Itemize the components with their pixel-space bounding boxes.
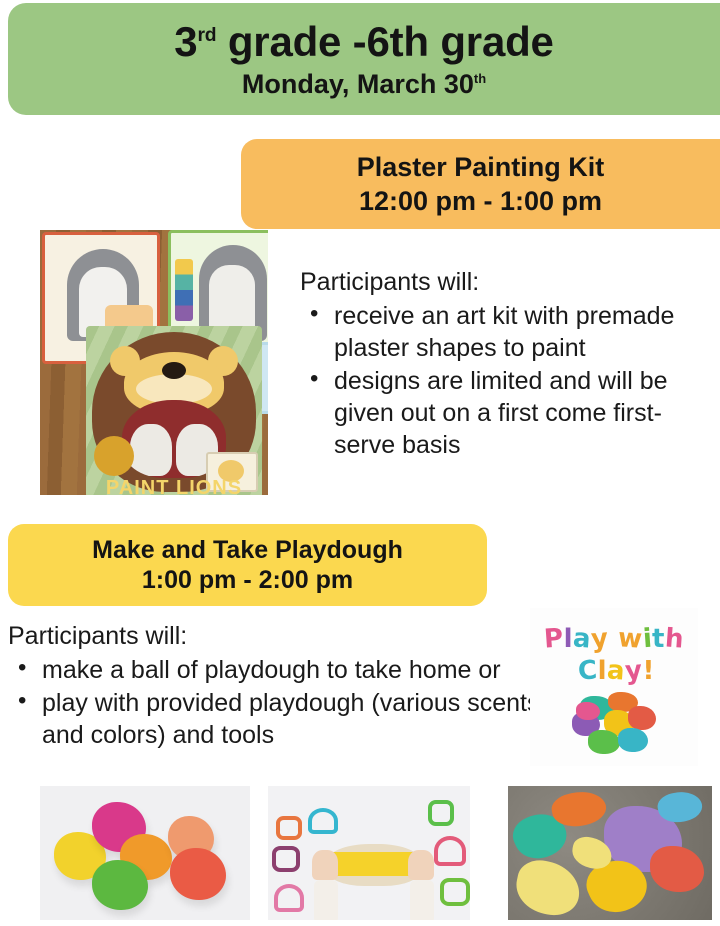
cookie-cutter — [274, 884, 304, 912]
clay-logo-line1: Play with — [544, 624, 684, 654]
clay-logo-letter: y — [590, 623, 610, 654]
clay-figure — [511, 856, 584, 920]
clay-logo-letter: h — [664, 623, 685, 654]
rolling-dough-photo — [268, 786, 470, 920]
playdough-ball — [170, 848, 226, 900]
header-banner: 3rd grade -6th grade Monday, March 30th — [8, 3, 720, 115]
plaster-figure-1 — [130, 424, 172, 476]
header-title-number: 3 — [174, 18, 197, 65]
clay-figures-photo — [508, 786, 712, 920]
play-with-clay-logo-photo: Play with Clay! — [530, 608, 698, 766]
package-label: PAINT LIONS — [86, 477, 262, 495]
clay-logo-letter: a — [572, 623, 592, 654]
header-title-rest: grade -6th grade — [216, 18, 553, 65]
cookie-cutter — [428, 800, 454, 826]
child-hand-right — [408, 850, 434, 880]
cookie-cutter — [272, 846, 300, 872]
child-hand-left — [312, 850, 338, 880]
sleeve — [410, 880, 434, 920]
clay-pile-graphic — [570, 692, 662, 758]
list-item: designs are limited and will be given ou… — [300, 365, 678, 461]
paint-pots-right — [175, 259, 193, 321]
header-date-ordinal: th — [474, 71, 486, 86]
dough-balls-photo — [40, 786, 250, 920]
list-item: play with provided playdough (various sc… — [8, 687, 556, 751]
clay-logo-line2: Clay! — [578, 656, 655, 686]
plaster-kit-photo: PAINT LIONS — [40, 230, 268, 495]
list-item: make a ball of playdough to take home or — [8, 654, 556, 686]
clay-logo-letter: a — [606, 655, 626, 686]
playdough-session-title: Make and Take Playdough — [92, 536, 403, 564]
cookie-cutter — [276, 816, 302, 840]
plaster-session-time: 12:00 pm - 1:00 pm — [359, 186, 602, 216]
header-title-ordinal: rd — [197, 25, 216, 46]
clay-logo-letter: P — [543, 623, 565, 654]
sleeve — [314, 880, 338, 920]
clay-logo-letter: C — [577, 655, 599, 686]
flyer-page: 3rd grade -6th grade Monday, March 30th … — [0, 0, 720, 926]
page-title: 3rd grade -6th grade — [174, 18, 553, 65]
clay-logo-letter: y — [624, 655, 644, 686]
plaster-lead-text: Participants will: — [300, 266, 678, 298]
cookie-cutter — [434, 836, 466, 866]
clay-logo-letter: ! — [643, 656, 655, 686]
list-item: receive an art kit with premade plaster … — [300, 300, 678, 364]
header-date: Monday, March 30th — [242, 69, 486, 99]
cookie-cutter — [308, 808, 338, 834]
clay-blob — [588, 730, 620, 754]
lion-nose — [162, 362, 186, 379]
playdough-session-banner: Make and Take Playdough 1:00 pm - 2:00 p… — [8, 524, 487, 606]
header-date-text: Monday, March 30 — [242, 69, 474, 99]
playdough-ball — [92, 860, 148, 910]
plaster-bullet-list: receive an art kit with premade plaster … — [300, 300, 678, 461]
playdough-description: Participants will: make a ball of playdo… — [8, 620, 556, 752]
plaster-description: Participants will: receive an art kit wi… — [300, 266, 678, 462]
rolling-pin — [324, 852, 420, 876]
plaster-session-banner: Plaster Painting Kit 12:00 pm - 1:00 pm — [241, 139, 720, 229]
paint-lions-package: PAINT LIONS — [86, 326, 262, 495]
clay-logo-letter: w — [617, 623, 644, 655]
clay-blob — [576, 702, 600, 720]
playdough-bullet-list: make a ball of playdough to take home or… — [8, 654, 556, 751]
playdough-lead-text: Participants will: — [8, 620, 556, 652]
playdough-session-time: 1:00 pm - 2:00 pm — [142, 566, 353, 594]
clay-blob — [618, 728, 648, 752]
plaster-session-title: Plaster Painting Kit — [357, 152, 605, 182]
clay-logo-letter: t — [652, 624, 665, 654]
clay-figure — [650, 846, 704, 892]
package-badge — [94, 436, 134, 476]
clay-blob — [628, 706, 656, 730]
cookie-cutter — [440, 878, 470, 906]
